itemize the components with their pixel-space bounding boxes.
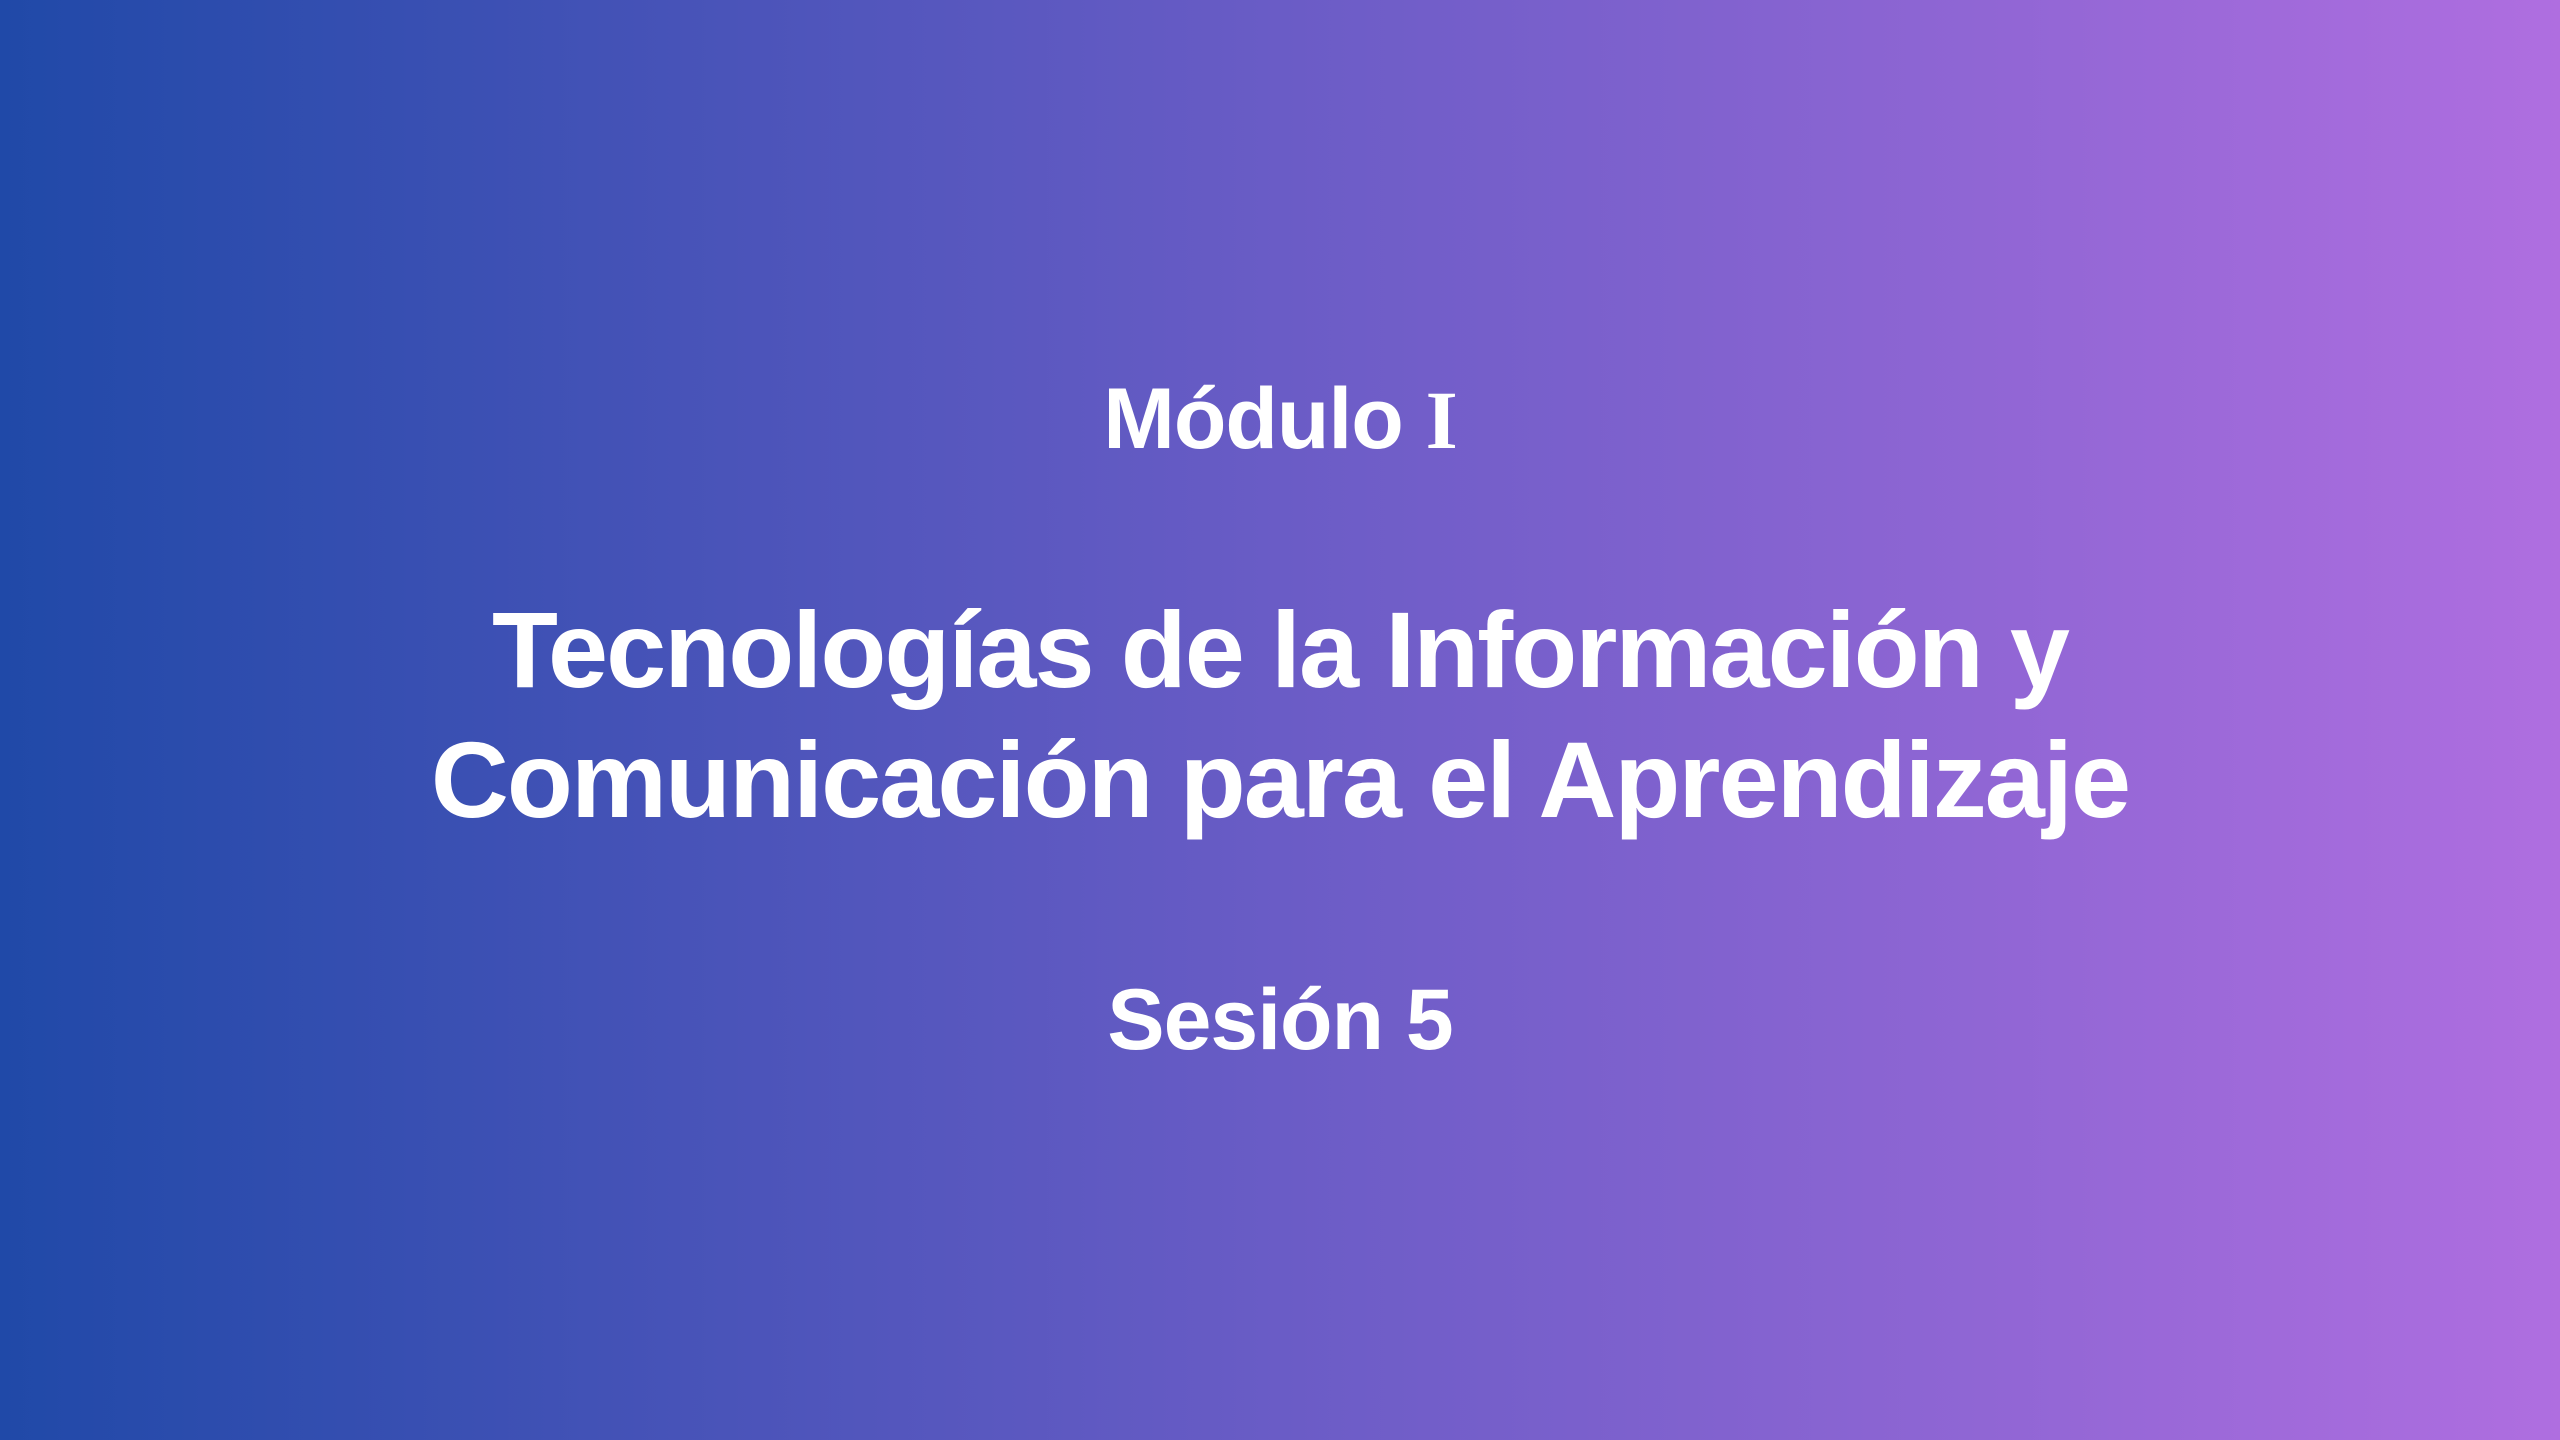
module-prefix-label: Módulo xyxy=(1103,371,1402,467)
course-title-line-2: Comunicación para el Aprendizaje xyxy=(431,719,2129,840)
course-title: Tecnologías de la Información yComunicac… xyxy=(300,585,2260,844)
slide-content: Módulo I Tecnologías de la Información y… xyxy=(180,362,2380,1078)
module-roman-numeral: I xyxy=(1426,374,1457,466)
session-heading: Sesión 5 xyxy=(180,963,2380,1078)
spacer-module-to-title xyxy=(180,477,2380,585)
module-heading: Módulo I xyxy=(180,362,2380,477)
title-slide: Módulo I Tecnologías de la Información y… xyxy=(0,0,2560,1440)
spacer-title-to-session xyxy=(180,845,2380,963)
course-title-line-1: Tecnologías de la Información y xyxy=(492,589,2068,710)
